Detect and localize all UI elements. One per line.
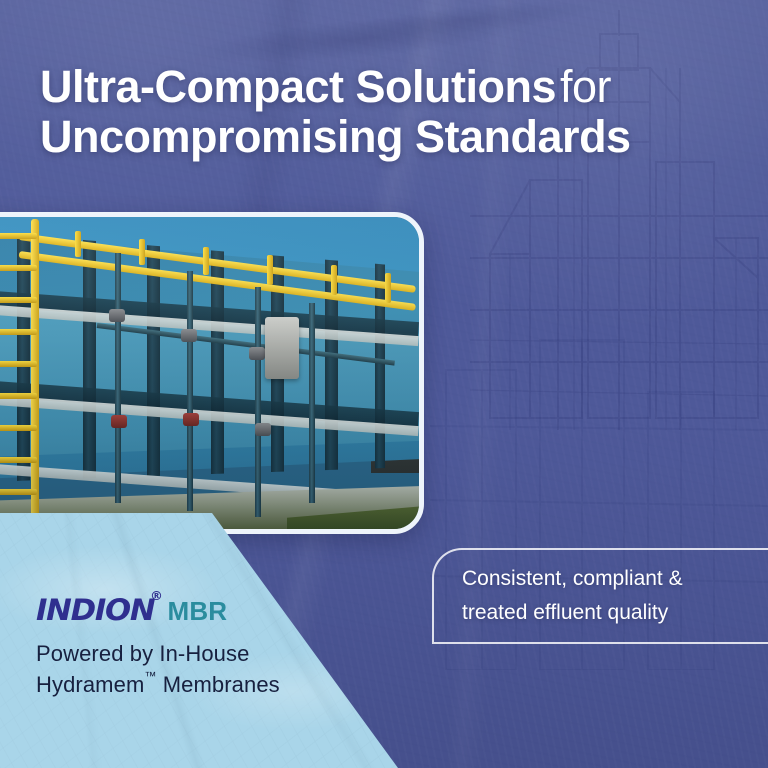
brand-tagline-line-2: Hydramem™ Membranes (36, 670, 366, 700)
promo-banner: Ultra-Compact Solutions for Uncompromisi… (0, 0, 768, 768)
brand-block: INDION® MBR Powered by In-House Hydramem… (36, 596, 366, 700)
brand-tagline: Powered by In-House Hydramem™ Membranes (36, 639, 366, 700)
headline-strong-1: Ultra-Compact Solutions (40, 61, 556, 112)
indion-mbr-logo: INDION® MBR (36, 596, 366, 625)
photo-shading-overlay (0, 217, 419, 529)
headline-strong-2: Uncompromising Standards (40, 111, 631, 162)
benefit-callout: Consistent, compliant & treated effluent… (432, 548, 768, 644)
brand-tagline-line-1: Powered by In-House (36, 639, 366, 669)
plant-photo-card (0, 212, 424, 534)
headline-line-2: Uncompromising Standards (40, 112, 720, 162)
headline-line-1: Ultra-Compact Solutions for (40, 62, 720, 112)
mbr-product-label: MBR (167, 598, 227, 624)
callout-line-2: treated effluent quality (462, 596, 768, 630)
headline: Ultra-Compact Solutions for Uncompromisi… (40, 62, 720, 163)
plant-photo-image (0, 217, 419, 529)
indion-wordmark: INDION® (36, 596, 166, 625)
headline-light-1: for (560, 61, 611, 112)
registered-trademark-icon: ® (150, 589, 161, 603)
hydramem-name: Hydramem (36, 672, 144, 697)
indion-wordmark-text: INDION (36, 593, 154, 627)
membranes-word: Membranes (163, 672, 280, 697)
callout-line-1: Consistent, compliant & (462, 562, 768, 596)
trademark-icon: ™ (144, 669, 156, 683)
